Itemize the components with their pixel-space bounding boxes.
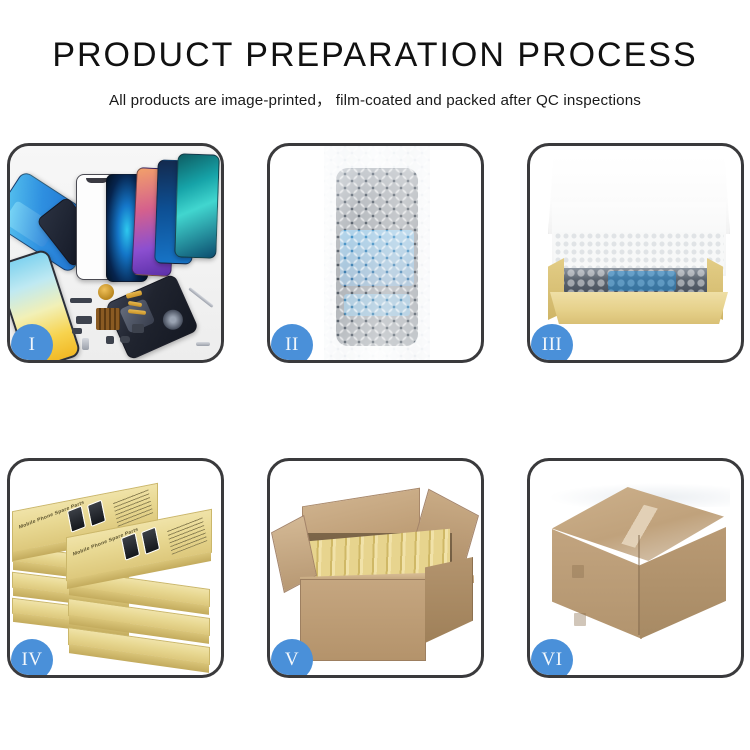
page-title: PRODUCT PREPARATION PROCESS [0,36,750,75]
step-badge-4: IV [11,639,53,678]
phone-screen-teal-icon [174,153,220,258]
carton-side-face [425,557,473,643]
taptic-engine-part-icon [132,324,144,333]
earpiece-part-icon [120,336,130,343]
carton-front-face [300,579,426,661]
retail-box-thumbnail [141,527,160,555]
battery-connector-part-icon [72,328,82,334]
step-badge-6: VI [531,639,573,678]
screw-set-part-icon [196,342,210,346]
step-panel-3: III [527,143,744,363]
retail-box-spec-lines [167,516,207,555]
sim-tray-part-icon [82,338,89,350]
product-preparation-infographic: PRODUCT PREPARATION PROCESS All products… [0,0,750,750]
header: PRODUCT PREPARATION PROCESS All products… [0,0,750,110]
wrapped-contents-icon [556,268,722,296]
bubble-wrap-sheet [324,146,430,360]
chip-array-part-icon [96,308,120,330]
carton-hand-hole-lower-icon [574,613,586,626]
speaker-coil-part-icon [98,284,114,300]
page-subtitle: All products are image-printed， film-coa… [0,88,750,110]
step-badge-5: V [271,639,313,678]
step-badge-3: III [531,324,573,363]
step-badge-2: II [271,324,313,363]
step-panel-2: II [267,143,484,363]
film-gloss-highlight [324,146,430,360]
step-badge-1: I [11,324,53,363]
steps-grid: I II [7,143,745,683]
retail-box-thumbnail [87,500,106,527]
retail-box-thumbnail [67,505,86,532]
carton-hand-hole-upper-icon [572,565,584,578]
step-panel-1: I [7,143,224,363]
box-front-wall [550,292,728,324]
flex-cable-part-icon [70,298,92,303]
carton-corner-seam [638,535,640,635]
step-panel-5: V [267,458,484,678]
button-part-icon [106,336,114,344]
step-panel-4: Mobile Phone Spare Parts Mobile Phone Sp… [7,458,224,678]
step-panel-6: VI [527,458,744,678]
retail-box-thumbnail [121,532,140,560]
camera-module-part-icon [76,316,92,324]
